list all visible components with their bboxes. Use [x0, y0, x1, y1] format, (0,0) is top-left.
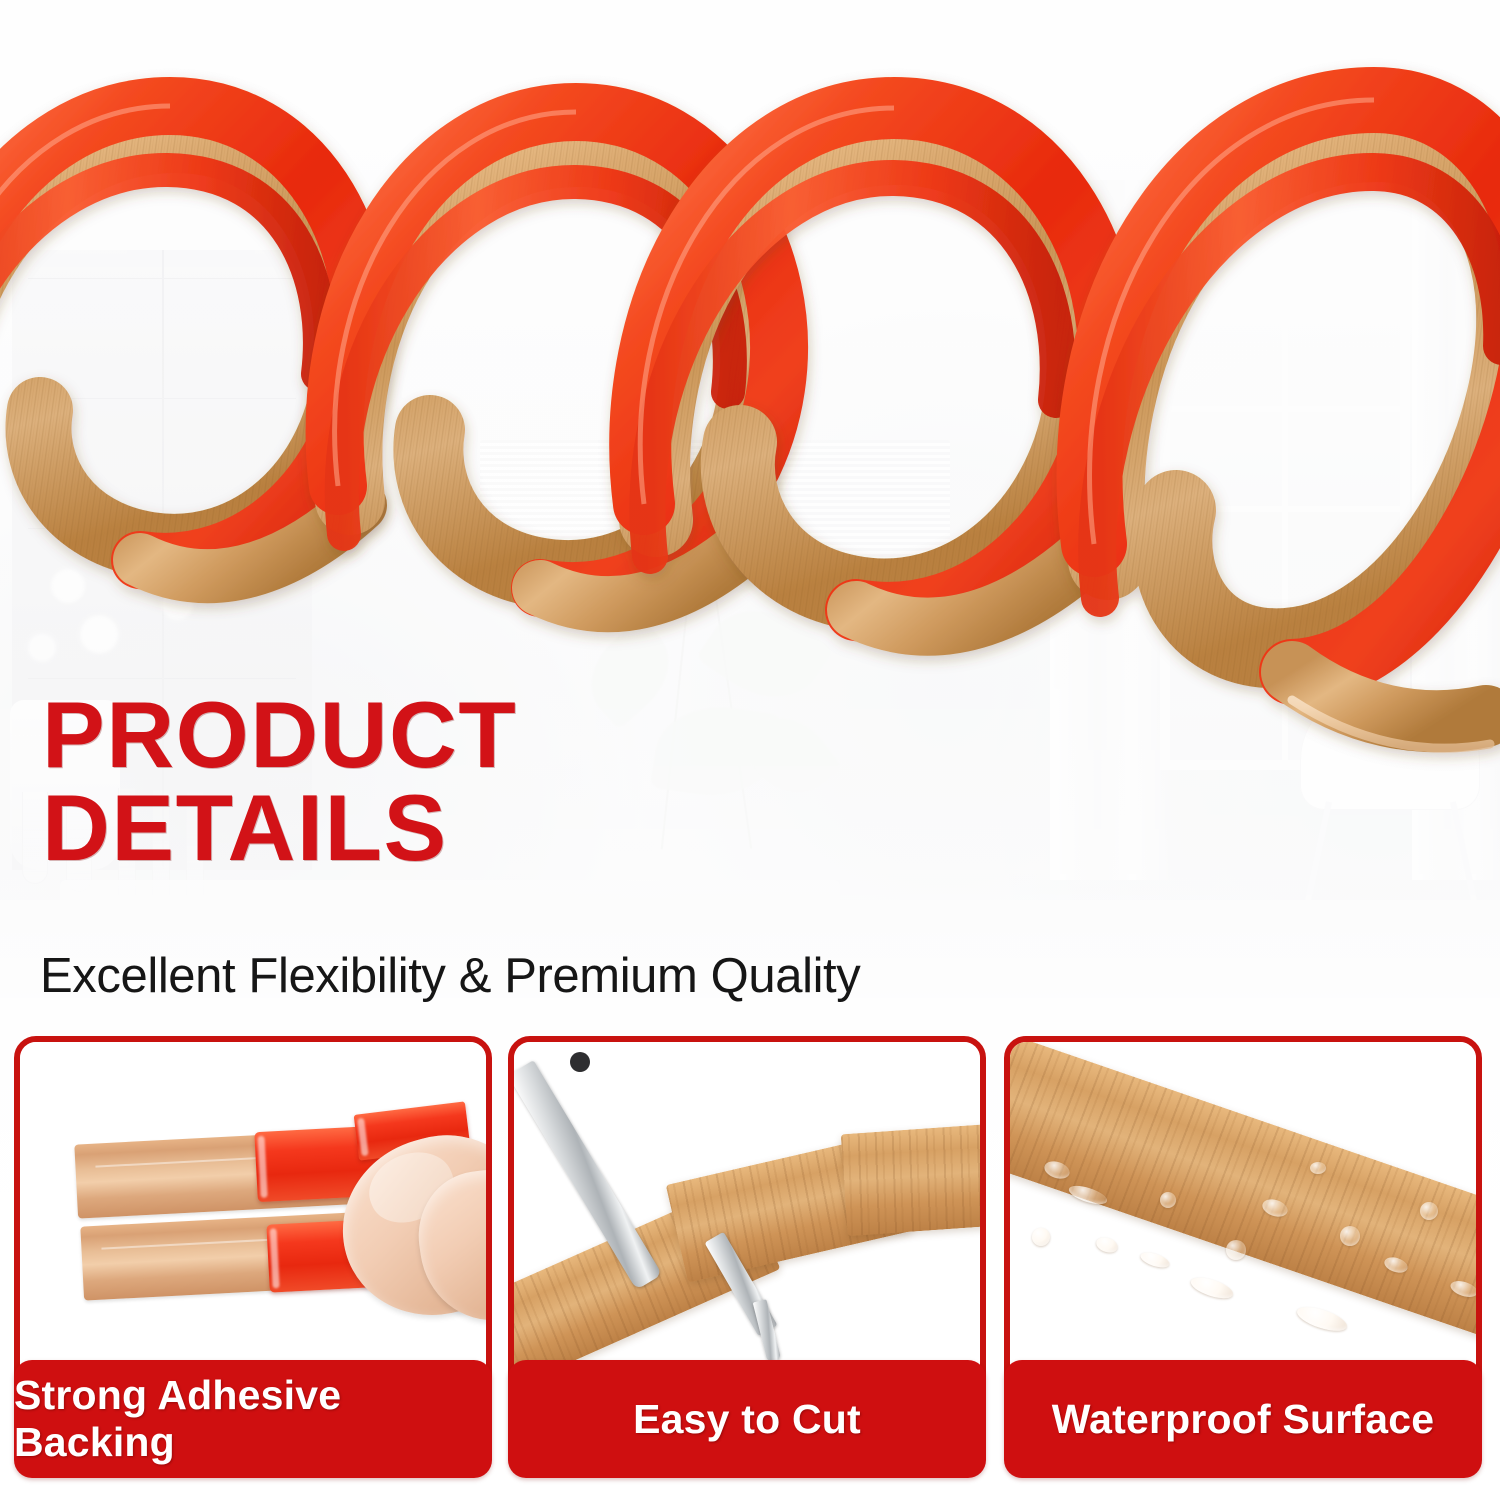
feature-caption-label: Strong Adhesive Backing	[14, 1372, 492, 1466]
coil-4	[1090, 100, 1500, 748]
page-subtitle: Excellent Flexibility & Premium Quality	[40, 948, 860, 1004]
feature-caption-cut: Easy to Cut	[508, 1360, 986, 1478]
water-droplet	[1139, 1250, 1171, 1271]
coil-1	[0, 106, 363, 576]
feature-caption-waterproof: Waterproof Surface	[1004, 1360, 1482, 1478]
feature-card-row: Strong Adhesive Backing Easy to Cut Wate…	[0, 1036, 1500, 1486]
feature-caption-label: Waterproof Surface	[1052, 1396, 1435, 1443]
water-droplet	[1420, 1202, 1438, 1220]
water-droplet	[1094, 1235, 1119, 1255]
water-droplet	[1310, 1162, 1326, 1174]
wood-grain-strip	[841, 1122, 980, 1236]
water-droplet	[1160, 1192, 1176, 1208]
coil-artwork	[0, 0, 1500, 800]
water-droplet	[1226, 1240, 1246, 1260]
water-droplet	[1189, 1274, 1236, 1303]
feature-caption-label: Easy to Cut	[633, 1396, 861, 1443]
feature-caption-adhesive: Strong Adhesive Backing	[14, 1360, 492, 1478]
page-title-line-2: DETAILS	[42, 781, 802, 874]
water-droplet	[1032, 1228, 1050, 1246]
scissors-pivot	[570, 1052, 590, 1072]
page-title-line-1: PRODUCT	[42, 688, 802, 781]
hero-edge-banding-coils	[0, 0, 1500, 800]
page-title: PRODUCT DETAILS	[42, 688, 802, 874]
water-droplet	[1340, 1226, 1360, 1246]
product-infographic-stage: PRODUCT DETAILS Excellent Flexibility & …	[0, 0, 1500, 1500]
water-droplet	[1294, 1302, 1349, 1335]
